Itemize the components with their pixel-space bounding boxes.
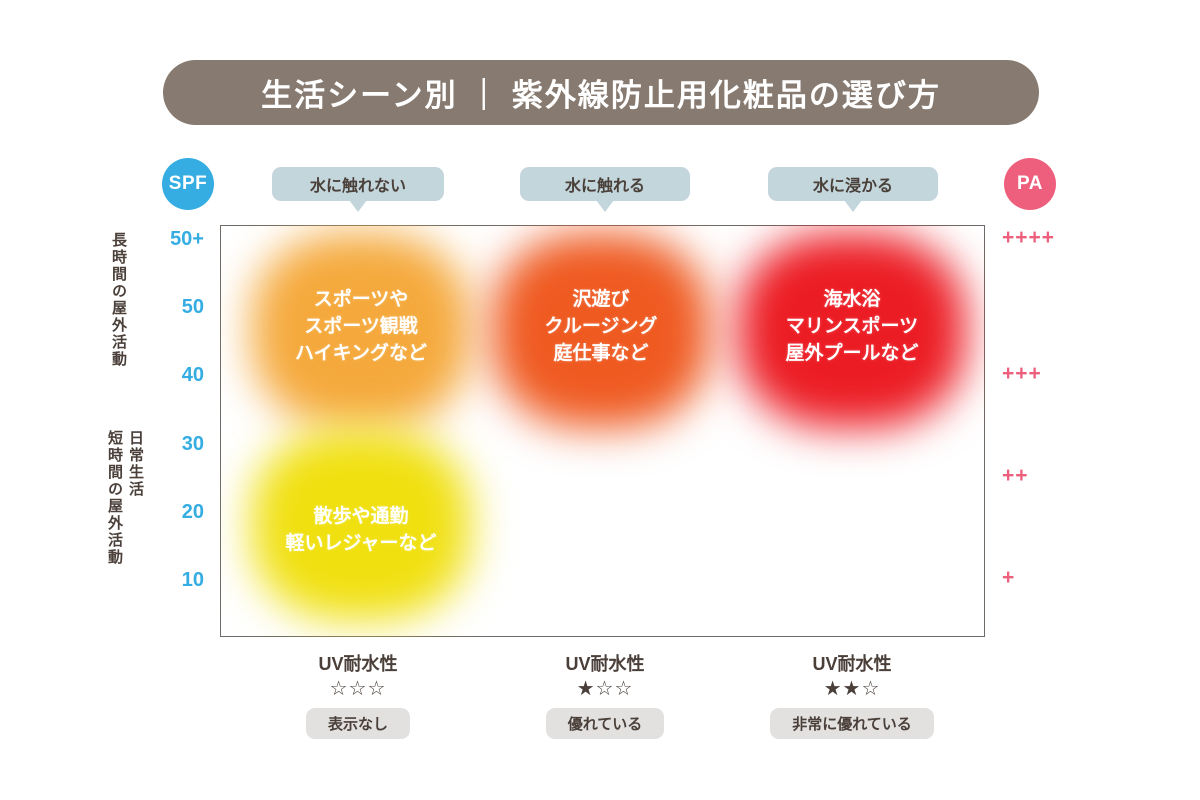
blob-label-sea-bathing: 海水浴 マリンスポーツ 屋外プールなど xyxy=(738,275,966,380)
uv-star-rating: ★★☆ xyxy=(824,678,881,700)
uv-rating-label: 表示なし xyxy=(328,713,388,734)
blob-label-river-cruise: 沢遊び クルージング 庭仕事など xyxy=(492,275,710,380)
column-header-label: 水に浸かる xyxy=(813,172,893,196)
activity-label-short-outdoor: 短時間の屋外活動 xyxy=(107,430,122,590)
pa-badge: PA xyxy=(1004,158,1056,210)
column-header-label: 水に触れない xyxy=(310,172,406,196)
column-header-no-water-contact: 水に触れない xyxy=(272,167,444,201)
uv-resistance-block-water-contact: UV耐水性 ★☆☆ 優れている xyxy=(505,650,705,739)
spf-tick-50plus: 50+ xyxy=(146,228,204,251)
blob-label-line: 沢遊び xyxy=(572,287,629,314)
uv-resistance-title: UV耐水性 xyxy=(812,650,891,676)
uv-resistance-title: UV耐水性 xyxy=(565,650,644,676)
spf-tick-10: 10 xyxy=(146,569,204,592)
blob-label-daily-walk: 散歩や通勤 軽いレジャーなど xyxy=(252,495,470,567)
spf-badge-label: SPF xyxy=(169,173,207,195)
uv-rating-label: 優れている xyxy=(568,713,643,734)
blob-label-line: 軽いレジャーなど xyxy=(285,531,436,558)
blob-label-line: スポーツ観戦 xyxy=(304,314,418,341)
page-title: 生活シーン別 ｜ 紫外線防止用化粧品の選び方 xyxy=(261,70,941,115)
pa-tick-3plus: +++ xyxy=(1002,362,1082,386)
pa-tick-2plus: ++ xyxy=(1002,464,1082,488)
uv-rating-pill: 表示なし xyxy=(306,708,410,739)
uv-resistance-block-no-water-contact: UV耐水性 ☆☆☆ 表示なし xyxy=(258,650,458,739)
uv-star-rating: ★☆☆ xyxy=(577,678,634,700)
blob-label-line: 散歩や通勤 xyxy=(313,504,408,531)
blob-label-sports: スポーツや スポーツ観戦 ハイキングなど xyxy=(252,275,470,380)
uv-star-rating: ☆☆☆ xyxy=(330,678,387,700)
activity-label-daily-life: 日常生活 xyxy=(128,430,143,550)
blob-label-line: ハイキングなど xyxy=(295,341,427,368)
activity-label-long-outdoor: 長時間の屋外活動 xyxy=(111,232,126,382)
blob-label-line: 屋外プールなど xyxy=(785,341,918,368)
blob-label-line: スポーツや xyxy=(314,287,409,314)
pa-tick-1plus: + xyxy=(1002,566,1082,590)
blob-label-line: クルージング xyxy=(544,314,657,341)
spf-tick-50: 50 xyxy=(146,296,204,319)
column-header-submerged: 水に浸かる xyxy=(768,167,938,201)
spf-tick-30: 30 xyxy=(146,433,204,456)
uv-resistance-title: UV耐水性 xyxy=(318,650,397,676)
pa-tick-4plus: ++++ xyxy=(1002,226,1082,250)
spf-tick-20: 20 xyxy=(146,501,204,524)
blob-label-line: 庭仕事など xyxy=(553,341,648,368)
uv-rating-pill: 非常に優れている xyxy=(770,708,934,739)
column-header-label: 水に触れる xyxy=(565,172,645,196)
page-title-banner: 生活シーン別 ｜ 紫外線防止用化粧品の選び方 xyxy=(163,60,1039,125)
uv-rating-pill: 優れている xyxy=(546,708,665,739)
uv-resistance-block-submerged: UV耐水性 ★★☆ 非常に優れている xyxy=(752,650,952,739)
pa-badge-label: PA xyxy=(1017,173,1043,195)
column-header-water-contact: 水に触れる xyxy=(520,167,690,201)
spf-badge: SPF xyxy=(162,158,214,210)
blob-label-line: 海水浴 xyxy=(823,287,880,314)
spf-tick-40: 40 xyxy=(146,364,204,387)
blob-label-line: マリンスポーツ xyxy=(786,314,918,341)
uv-rating-label: 非常に優れている xyxy=(792,713,912,734)
